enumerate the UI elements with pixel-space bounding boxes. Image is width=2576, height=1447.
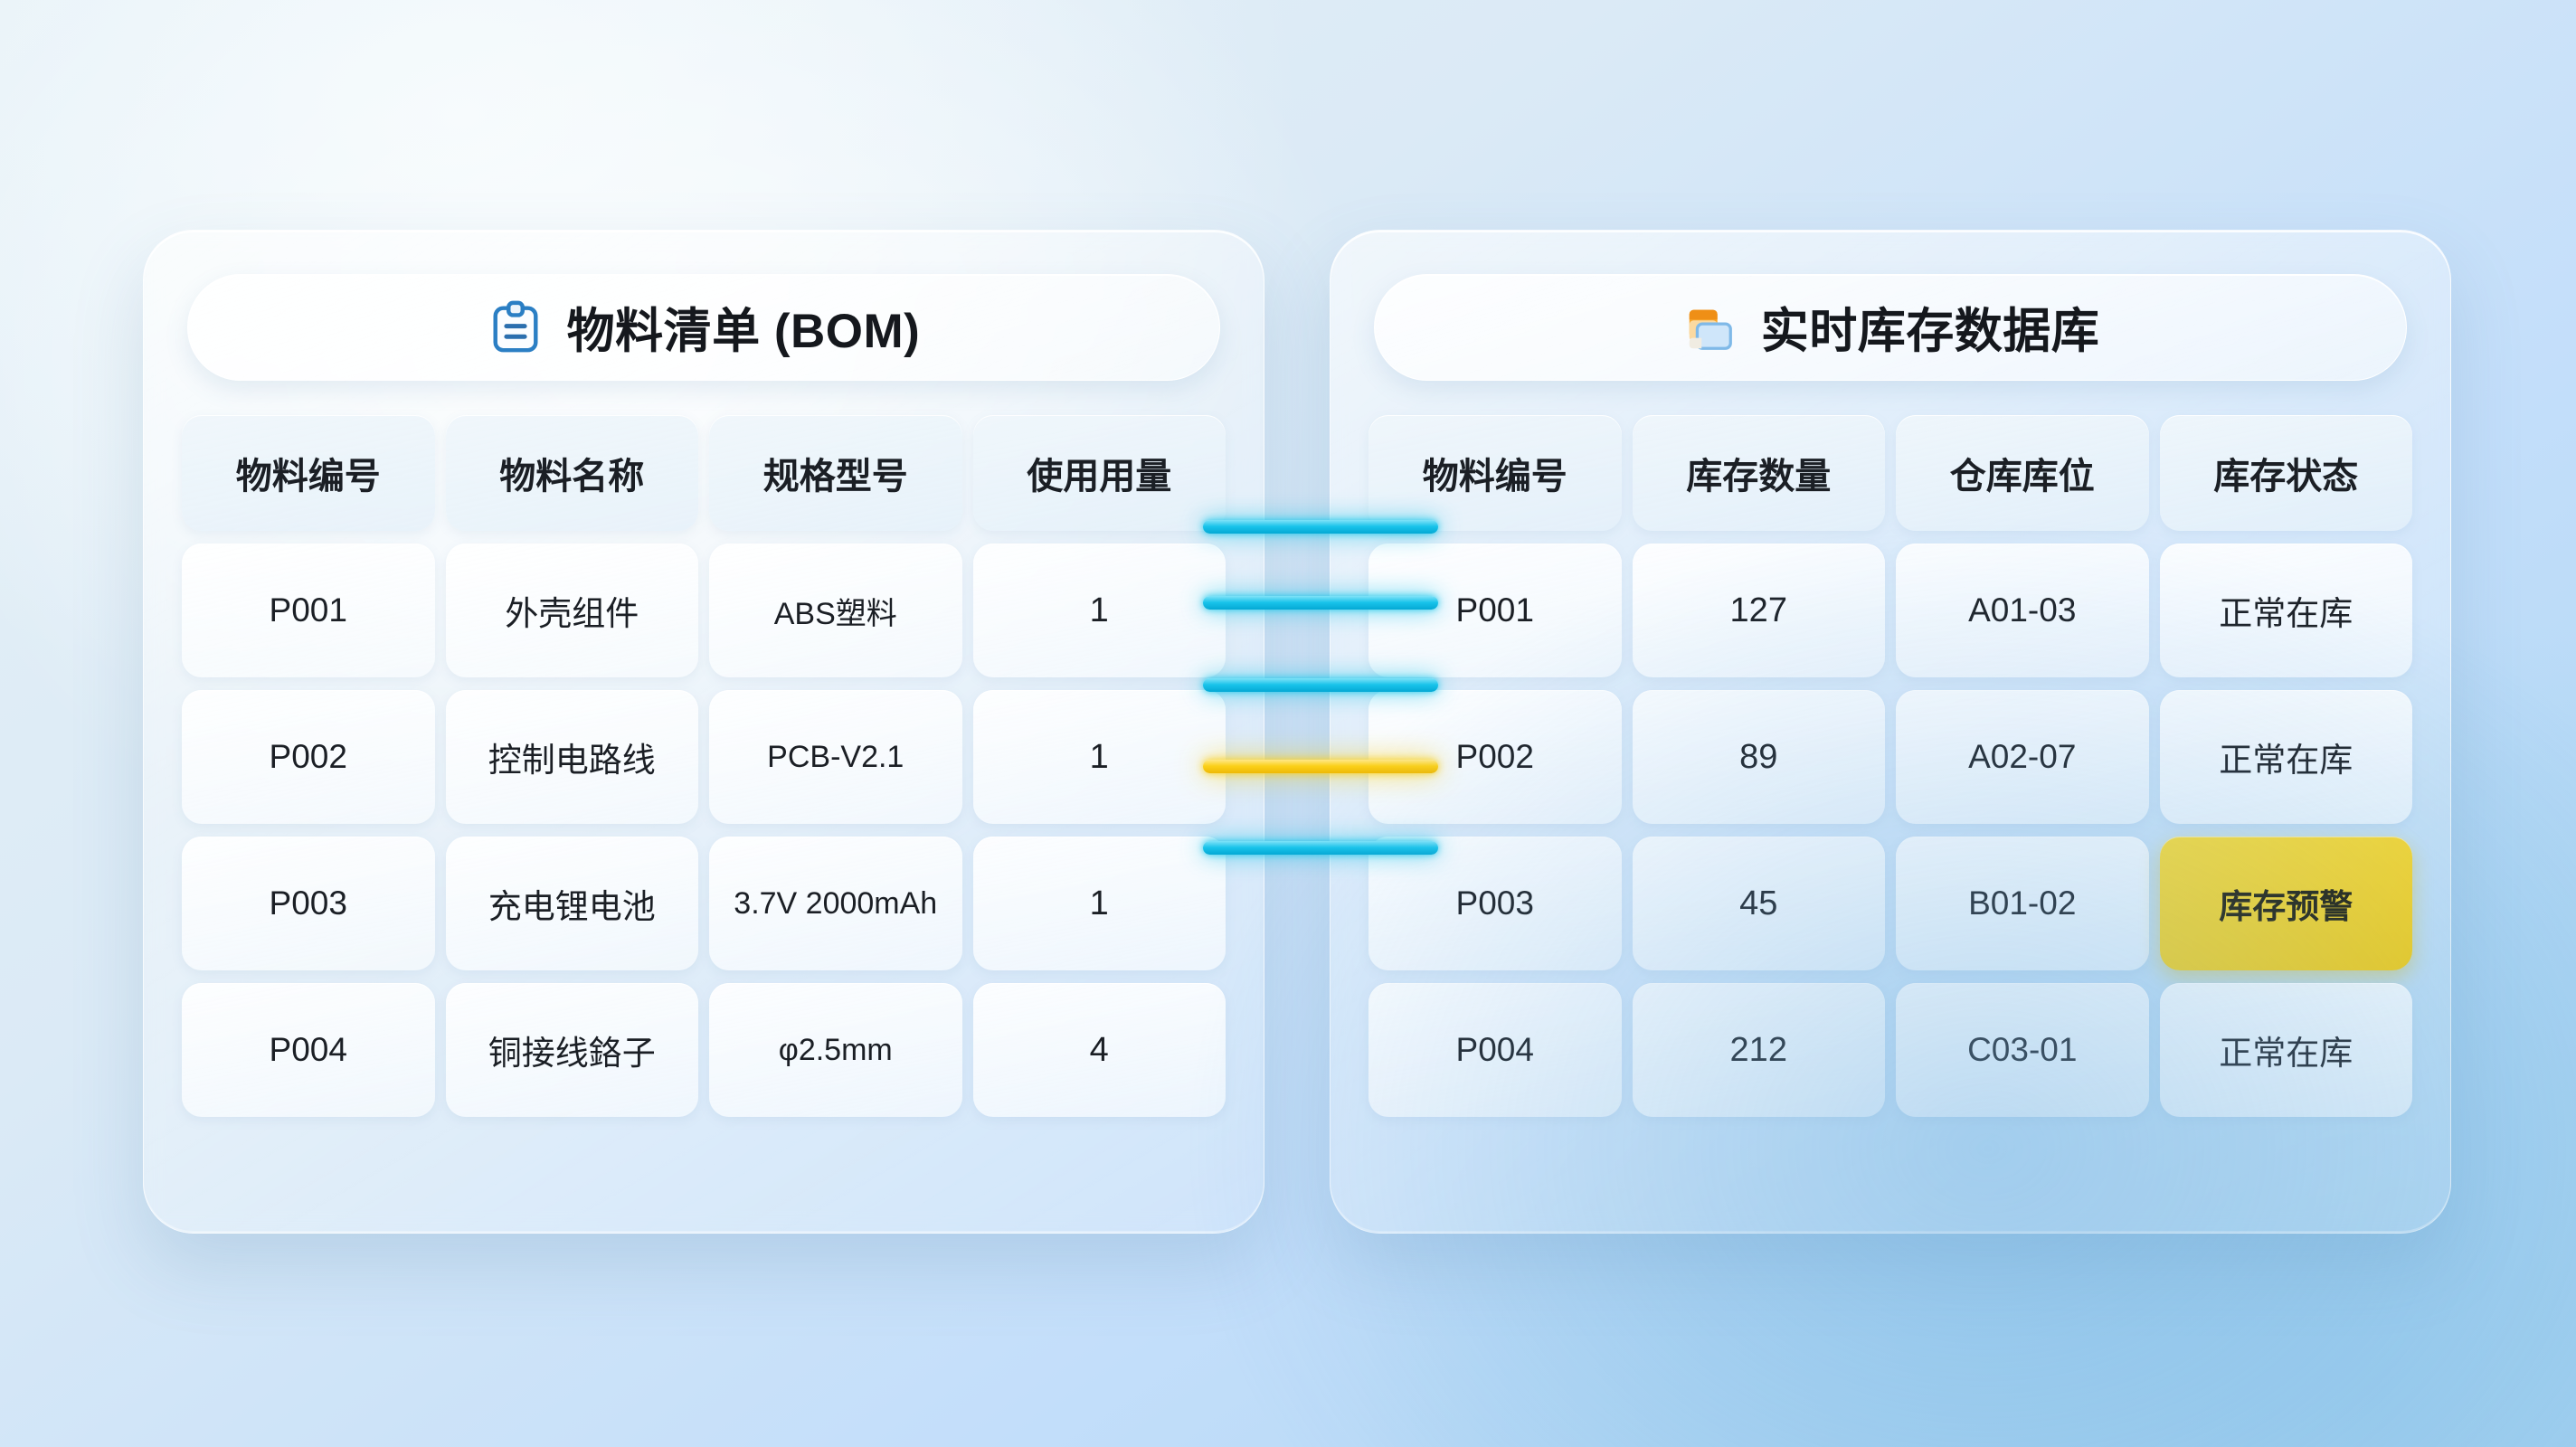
bom-panel-header: 物料清单 (BOM): [187, 274, 1220, 381]
column-header[interactable]: 仓库库位: [1896, 415, 2149, 531]
table-cell-code: P003: [182, 837, 435, 970]
table-cell-location: A02-07: [1896, 690, 2149, 824]
column-header[interactable]: 库存数量: [1633, 415, 1886, 531]
table-row[interactable]: P002控制电路线PCB-V2.11: [182, 690, 1226, 824]
table-cell-spec: 3.7V 2000mAh: [709, 837, 962, 970]
database-folder-icon: [1681, 299, 1738, 355]
table-row[interactable]: P00345B01-02库存预警: [1368, 837, 2412, 970]
table-cell-code: P004: [182, 983, 435, 1117]
table-row[interactable]: P003充电锂电池3.7V 2000mAh1: [182, 837, 1226, 970]
table-row[interactable]: P001外壳组件ABS塑料1: [182, 544, 1226, 677]
column-header[interactable]: 库存状态: [2160, 415, 2413, 531]
table-cell-code: P001: [182, 544, 435, 677]
status-badge: 正常在库: [2160, 544, 2413, 677]
column-header[interactable]: 物料编号: [182, 415, 435, 531]
table-cell-code: P002: [182, 690, 435, 824]
bom-table: 物料编号物料名称规格型号使用用量P001外壳组件ABS塑料1P002控制电路线P…: [182, 415, 1226, 1117]
table-cell-stock: 212: [1633, 983, 1886, 1117]
bom-panel: 物料清单 (BOM) 物料编号物料名称规格型号使用用量P001外壳组件ABS塑料…: [143, 230, 1264, 1234]
status-badge: 正常在库: [2160, 983, 2413, 1117]
table-cell-code: P004: [1368, 983, 1622, 1117]
table-cell-name: 铜接线鉻子: [446, 983, 699, 1117]
inventory-panel-title: 实时库存数据库: [1761, 293, 2100, 362]
table-cell-location: A01-03: [1896, 544, 2149, 677]
table-cell-name: 控制电路线: [446, 690, 699, 824]
table-cell-qty: 1: [973, 837, 1226, 970]
table-cell-spec: PCB-V2.1: [709, 690, 962, 824]
table-header-row: 物料编号物料名称规格型号使用用量: [182, 415, 1226, 531]
column-header[interactable]: 使用用量: [973, 415, 1226, 531]
table-cell-code: P002: [1368, 690, 1622, 824]
table-row[interactable]: P001127A01-03正常在库: [1368, 544, 2412, 677]
table-cell-code: P003: [1368, 837, 1622, 970]
table-cell-name: 外壳组件: [446, 544, 699, 677]
status-badge-warning: 库存预警: [2160, 837, 2413, 970]
clipboard-icon: [488, 299, 544, 355]
table-cell-name: 充电锂电池: [446, 837, 699, 970]
table-cell-stock: 45: [1633, 837, 1886, 970]
table-cell-code: P001: [1368, 544, 1622, 677]
table-cell-location: B01-02: [1896, 837, 2149, 970]
table-row[interactable]: P004212C03-01正常在库: [1368, 983, 2412, 1117]
inventory-panel: 实时库存数据库 物料编号库存数量仓库库位库存状态P001127A01-03正常在…: [1330, 230, 2451, 1234]
column-header[interactable]: 物料名称: [446, 415, 699, 531]
bom-panel-title: 物料清单 (BOM): [567, 293, 921, 362]
inventory-panel-header: 实时库存数据库: [1374, 274, 2407, 381]
table-row[interactable]: P004铜接线鉻子φ2.5mm4: [182, 983, 1226, 1117]
table-cell-qty: 4: [973, 983, 1226, 1117]
table-header-row: 物料编号库存数量仓库库位库存状态: [1368, 415, 2412, 531]
table-cell-location: C03-01: [1896, 983, 2149, 1117]
table-cell-qty: 1: [973, 690, 1226, 824]
table-cell-stock: 127: [1633, 544, 1886, 677]
table-cell-spec: φ2.5mm: [709, 983, 962, 1117]
status-badge: 正常在库: [2160, 690, 2413, 824]
inventory-table: 物料编号库存数量仓库库位库存状态P001127A01-03正常在库P00289A…: [1368, 415, 2412, 1117]
table-cell-spec: ABS塑料: [709, 544, 962, 677]
column-header[interactable]: 物料编号: [1368, 415, 1622, 531]
column-header[interactable]: 规格型号: [709, 415, 962, 531]
canvas: 物料清单 (BOM) 物料编号物料名称规格型号使用用量P001外壳组件ABS塑料…: [0, 0, 2576, 1447]
table-cell-qty: 1: [973, 544, 1226, 677]
table-cell-stock: 89: [1633, 690, 1886, 824]
table-row[interactable]: P00289A02-07正常在库: [1368, 690, 2412, 824]
